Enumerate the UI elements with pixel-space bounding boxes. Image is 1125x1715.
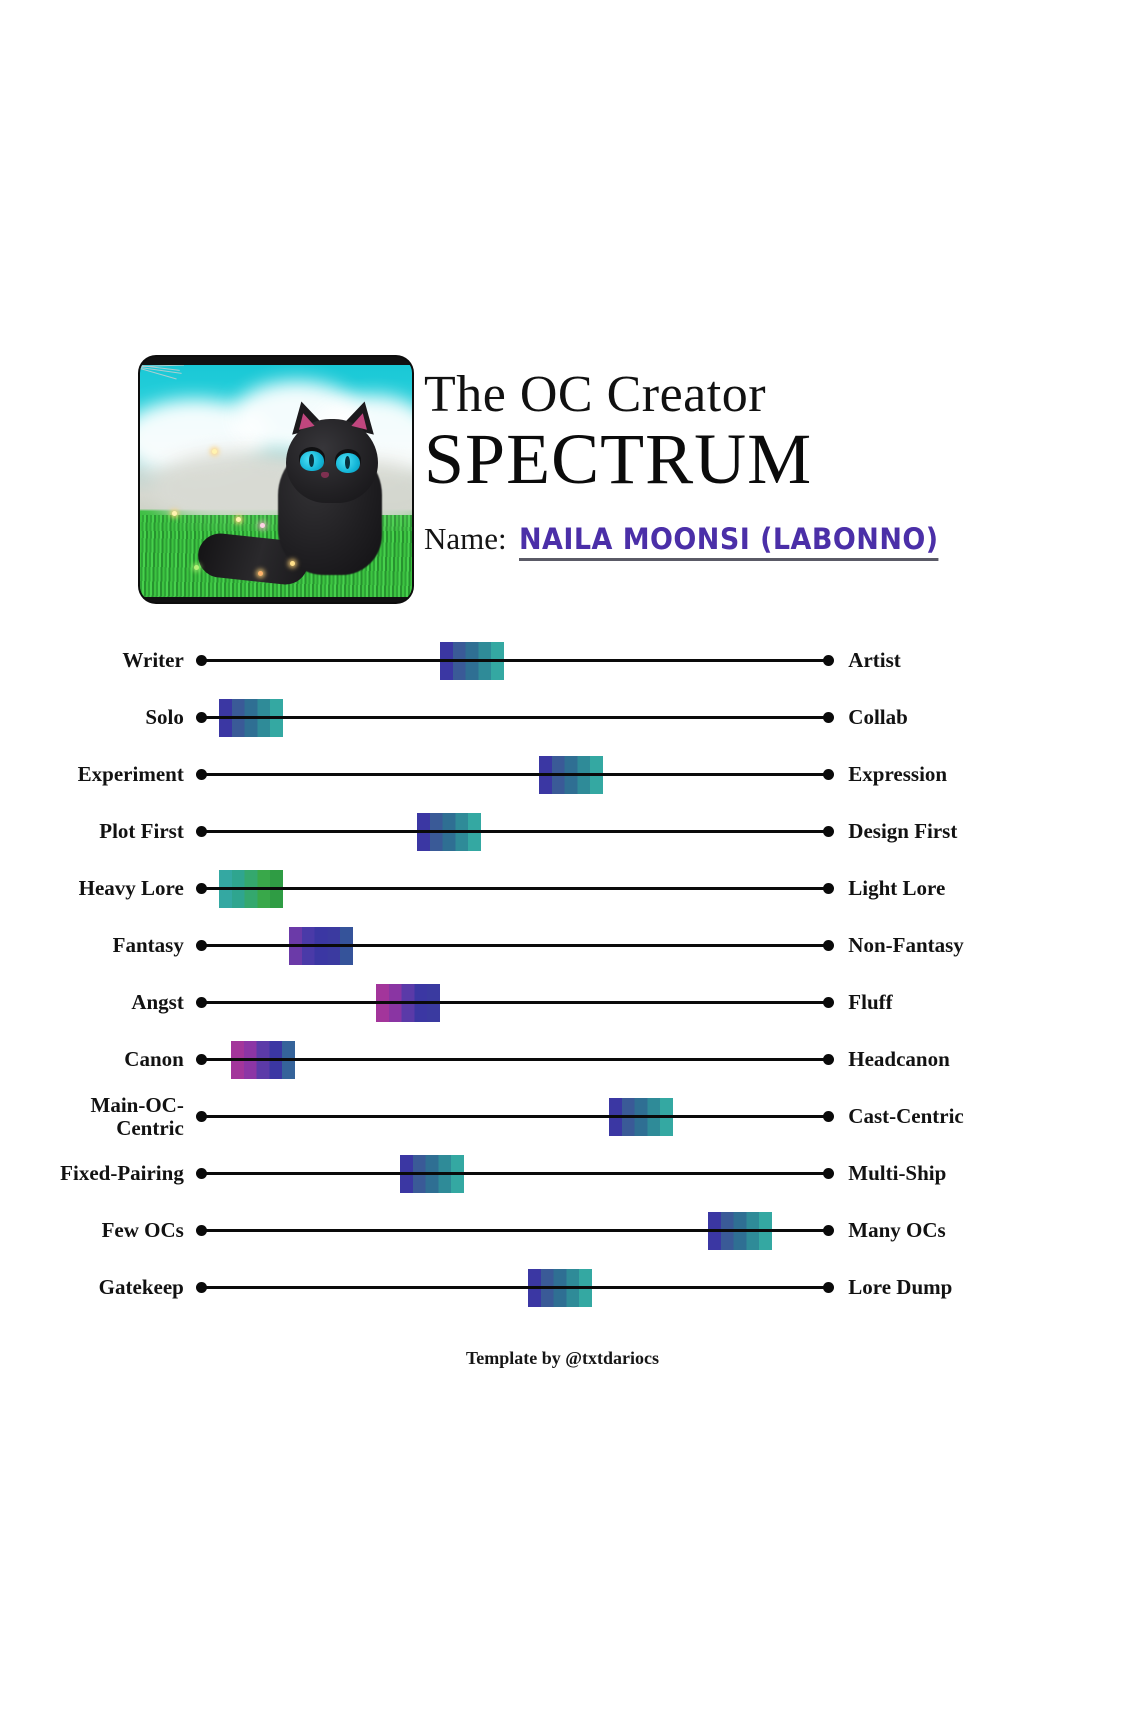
- spectrum-right-label: Design First: [834, 820, 1125, 843]
- spectrum-list: WriterArtistSoloCollabExperimentExpressi…: [0, 632, 1125, 1316]
- spectrum-left-label: Solo: [0, 706, 196, 729]
- spectrum-right-label: Collab: [834, 706, 1125, 729]
- spectrum-left-label: Canon: [0, 1048, 196, 1071]
- spectrum-track[interactable]: [196, 1088, 834, 1145]
- page-title-line-1: The OC Creator: [424, 367, 1044, 423]
- spectrum-track-line: [202, 1001, 828, 1004]
- spectrum-left-label: Experiment: [0, 763, 196, 786]
- spectrum-row: ExperimentExpression: [0, 746, 1125, 803]
- spectrum-row: Main-OC-CentricCast-Centric: [0, 1088, 1125, 1145]
- template-credit: Template by @txtdariocs: [0, 1348, 1125, 1369]
- spectrum-track[interactable]: [196, 1202, 834, 1259]
- spectrum-track[interactable]: [196, 803, 834, 860]
- spectrum-endpoint-right: [823, 883, 834, 894]
- spectrum-endpoint-left: [196, 1282, 207, 1293]
- spectrum-row: Fixed-PairingMulti-Ship: [0, 1145, 1125, 1202]
- spectrum-track-line: [202, 773, 828, 776]
- spectrum-track[interactable]: [196, 1259, 834, 1316]
- spectrum-endpoint-right: [823, 1054, 834, 1065]
- name-label: Name:: [424, 521, 507, 557]
- spectrum-right-label: Lore Dump: [834, 1276, 1125, 1299]
- spectrum-left-label: Angst: [0, 991, 196, 1014]
- spectrum-endpoint-right: [823, 997, 834, 1008]
- spectrum-left-label: Main-OC-Centric: [0, 1094, 196, 1140]
- spectrum-row: GatekeepLore Dump: [0, 1259, 1125, 1316]
- spectrum-track[interactable]: [196, 917, 834, 974]
- spectrum-endpoint-left: [196, 712, 207, 723]
- spectrum-left-label: Fantasy: [0, 934, 196, 957]
- name-field[interactable]: NAILA MOONSI (LABONNO): [519, 522, 939, 561]
- spectrum-row: CanonHeadcanon: [0, 1031, 1125, 1088]
- spectrum-track-line: [202, 1229, 828, 1232]
- spectrum-track[interactable]: [196, 746, 834, 803]
- spectrum-right-label: Multi-Ship: [834, 1162, 1125, 1185]
- cat-nose: [321, 472, 329, 478]
- spectrum-row: Heavy LoreLight Lore: [0, 860, 1125, 917]
- spectrum-track[interactable]: [196, 974, 834, 1031]
- spectrum-track-line: [202, 1286, 828, 1289]
- spectrum-track[interactable]: [196, 632, 834, 689]
- spectrum-endpoint-right: [823, 655, 834, 666]
- spectrum-track-line: [202, 659, 828, 662]
- spectrum-left-label: Fixed-Pairing: [0, 1162, 196, 1185]
- spectrum-endpoint-left: [196, 1225, 207, 1236]
- spectrum-row: Plot FirstDesign First: [0, 803, 1125, 860]
- cat-illustration: [140, 365, 412, 597]
- spectrum-track[interactable]: [196, 1031, 834, 1088]
- spectrum-endpoint-left: [196, 1111, 207, 1122]
- spectrum-right-label: Headcanon: [834, 1048, 1125, 1071]
- spectrum-left-label: Gatekeep: [0, 1276, 196, 1299]
- header: The OC Creator SPECTRUM Name: NAILA MOON…: [0, 345, 1125, 610]
- spectrum-endpoint-left: [196, 997, 207, 1008]
- spectrum-endpoint-right: [823, 1282, 834, 1293]
- spectrum-endpoint-left: [196, 883, 207, 894]
- spectrum-row: WriterArtist: [0, 632, 1125, 689]
- spectrum-endpoint-right: [823, 1111, 834, 1122]
- spectrum-right-label: Cast-Centric: [834, 1105, 1125, 1128]
- spectrum-track-line: [202, 1058, 828, 1061]
- spectrum-right-label: Light Lore: [834, 877, 1125, 900]
- spectrum-endpoint-left: [196, 1168, 207, 1179]
- spectrum-left-label: Writer: [0, 649, 196, 672]
- spectrum-track-line: [202, 716, 828, 719]
- page-title-line-2: SPECTRUM: [424, 423, 1044, 495]
- spectrum-right-label: Non-Fantasy: [834, 934, 1125, 957]
- spectrum-track[interactable]: [196, 689, 834, 746]
- spectrum-left-label: Plot First: [0, 820, 196, 843]
- spectrum-row: AngstFluff: [0, 974, 1125, 1031]
- spectrum-endpoint-left: [196, 769, 207, 780]
- spectrum-row: SoloCollab: [0, 689, 1125, 746]
- spectrum-endpoint-left: [196, 655, 207, 666]
- cat-pupil-right: [345, 456, 350, 469]
- spectrum-track-line: [202, 944, 828, 947]
- spectrum-endpoint-left: [196, 826, 207, 837]
- spectrum-track-line: [202, 1115, 828, 1118]
- spectrum-track-line: [202, 1172, 828, 1175]
- spectrum-row: FantasyNon-Fantasy: [0, 917, 1125, 974]
- spectrum-endpoint-right: [823, 1225, 834, 1236]
- spectrum-right-label: Artist: [834, 649, 1125, 672]
- spectrum-left-label: Few OCs: [0, 1219, 196, 1242]
- spectrum-right-label: Expression: [834, 763, 1125, 786]
- name-row: Name: NAILA MOONSI (LABONNO): [424, 521, 1044, 561]
- spectrum-endpoint-right: [823, 712, 834, 723]
- spectrum-right-label: Fluff: [834, 991, 1125, 1014]
- spectrum-right-label: Many OCs: [834, 1219, 1125, 1242]
- title-block: The OC Creator SPECTRUM Name: NAILA MOON…: [424, 367, 1044, 561]
- spectrum-endpoint-left: [196, 940, 207, 951]
- spectrum-endpoint-right: [823, 826, 834, 837]
- spectrum-endpoint-right: [823, 769, 834, 780]
- cat-pupil-left: [309, 454, 314, 467]
- spectrum-track[interactable]: [196, 1145, 834, 1202]
- spectrum-endpoint-left: [196, 1054, 207, 1065]
- spectrum-endpoint-right: [823, 1168, 834, 1179]
- spectrum-row: Few OCsMany OCs: [0, 1202, 1125, 1259]
- spectrum-track[interactable]: [196, 860, 834, 917]
- avatar: [140, 357, 412, 602]
- spectrum-track-line: [202, 830, 828, 833]
- spectrum-left-label: Heavy Lore: [0, 877, 196, 900]
- spectrum-endpoint-right: [823, 940, 834, 951]
- spectrum-track-line: [202, 887, 828, 890]
